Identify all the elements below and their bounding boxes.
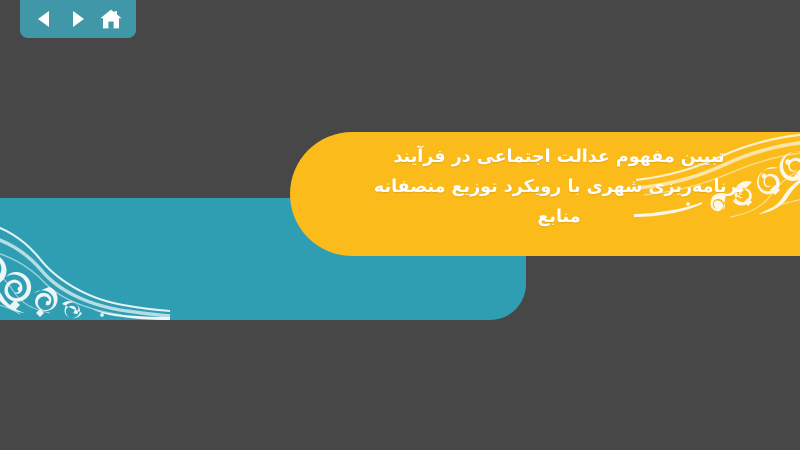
next-slide-button[interactable] bbox=[63, 4, 93, 34]
triangle-right-icon bbox=[67, 8, 89, 30]
slide-navigation-toolbar[interactable] bbox=[20, 0, 136, 38]
presentation-slide: تبیین مفهوم عدالت اجتماعی در فرآیند برنا… bbox=[0, 0, 800, 450]
triangle-left-icon bbox=[34, 8, 56, 30]
home-button[interactable] bbox=[96, 4, 126, 34]
title-line-1: تبیین مفهوم عدالت اجتماعی در فرآیند bbox=[350, 142, 768, 172]
home-icon bbox=[99, 8, 123, 31]
previous-slide-button[interactable] bbox=[30, 4, 60, 34]
title-line-3: منابع bbox=[350, 202, 768, 232]
slide-title: تبیین مفهوم عدالت اجتماعی در فرآیند برنا… bbox=[350, 142, 768, 232]
title-line-2: برنامه‌ریزی شهری با رویکرد توزیع منصفانه bbox=[350, 172, 768, 202]
title-banner: تبیین مفهوم عدالت اجتماعی در فرآیند برنا… bbox=[290, 132, 800, 256]
teal-arabesque-ornament bbox=[0, 205, 170, 320]
